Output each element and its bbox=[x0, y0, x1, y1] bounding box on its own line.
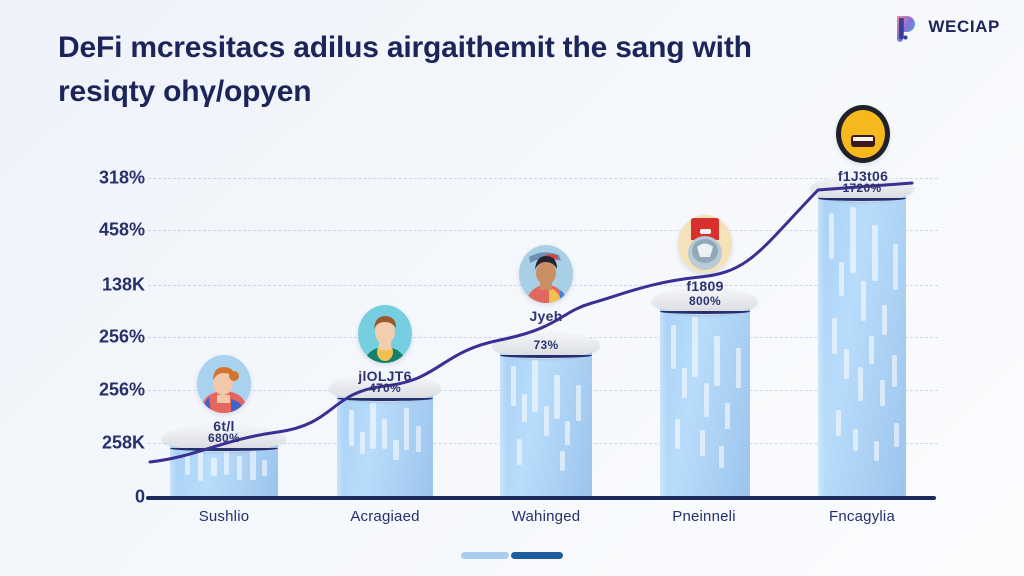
y-axis-tick-label: 318% bbox=[55, 168, 145, 189]
bar-body bbox=[660, 301, 750, 497]
bar-column[interactable]: 680% bbox=[170, 425, 278, 497]
avatar-yellow-face bbox=[836, 105, 890, 163]
pagination-indicator[interactable] bbox=[461, 552, 563, 559]
bar-value-label: 73% bbox=[500, 338, 592, 352]
bar-body bbox=[818, 188, 906, 497]
x-axis-label: Fncagylia bbox=[787, 508, 937, 525]
bar-rim bbox=[818, 196, 906, 201]
chart-plot-area: 318% 458% 138K 256% 256% 258K 0 bbox=[0, 0, 1024, 576]
bar-body bbox=[500, 345, 592, 497]
bar-body bbox=[337, 388, 433, 497]
bar-rim bbox=[337, 396, 433, 401]
x-axis-label: Wahinged bbox=[471, 508, 621, 525]
bar-column[interactable]: 470% bbox=[337, 375, 433, 497]
y-axis-tick-label: 256% bbox=[55, 380, 145, 401]
avatar-person-teal-shirt bbox=[358, 305, 412, 363]
avatar-caption: f1809 bbox=[650, 278, 760, 294]
x-axis-line bbox=[146, 496, 936, 500]
bar-column[interactable]: 73% bbox=[500, 332, 592, 497]
avatar-person-red-coat bbox=[519, 245, 573, 303]
bar-avatar-group[interactable]: 6t/l bbox=[169, 355, 279, 434]
y-axis-tick-label: 258K bbox=[55, 433, 145, 454]
bar-avatar-group[interactable]: f1809 bbox=[650, 215, 760, 294]
pagination-dot-1[interactable] bbox=[461, 552, 509, 559]
x-axis-label: Sushlio bbox=[149, 508, 299, 525]
bar-rim bbox=[500, 353, 592, 358]
bar-rim bbox=[170, 446, 278, 451]
avatar-caption: Jyeh bbox=[491, 308, 601, 324]
bar-column[interactable]: 1720% bbox=[818, 175, 906, 497]
bar-value-label: 680% bbox=[170, 431, 278, 445]
bar-value-label: 470% bbox=[337, 381, 433, 395]
infographic-canvas: DeFi mcresitacs adilus airgaithemit the … bbox=[0, 0, 1024, 576]
bar-avatar-group[interactable]: f1J3t06 bbox=[808, 105, 918, 184]
bar-avatar-group[interactable]: Jyeh bbox=[491, 245, 601, 324]
bar-avatar-group[interactable]: jlOLJT6 bbox=[330, 305, 440, 384]
x-axis-label: Pneinneli bbox=[629, 508, 779, 525]
bar-rim bbox=[660, 309, 750, 314]
avatar-woman-orange-hair bbox=[197, 355, 251, 413]
bar-value-label: 1720% bbox=[818, 181, 906, 195]
bar-value-label: 800% bbox=[660, 294, 750, 308]
y-axis-tick-label: 458% bbox=[55, 220, 145, 241]
x-axis-label: Acragiaed bbox=[310, 508, 460, 525]
y-axis-tick-label: 138K bbox=[55, 275, 145, 296]
y-axis-tick-label: 0 bbox=[55, 487, 145, 508]
avatar-red-cap-figure bbox=[678, 215, 732, 273]
pagination-dot-2[interactable] bbox=[511, 552, 563, 559]
y-axis-tick-label: 256% bbox=[55, 327, 145, 348]
bar-column[interactable]: 800% bbox=[660, 288, 750, 497]
